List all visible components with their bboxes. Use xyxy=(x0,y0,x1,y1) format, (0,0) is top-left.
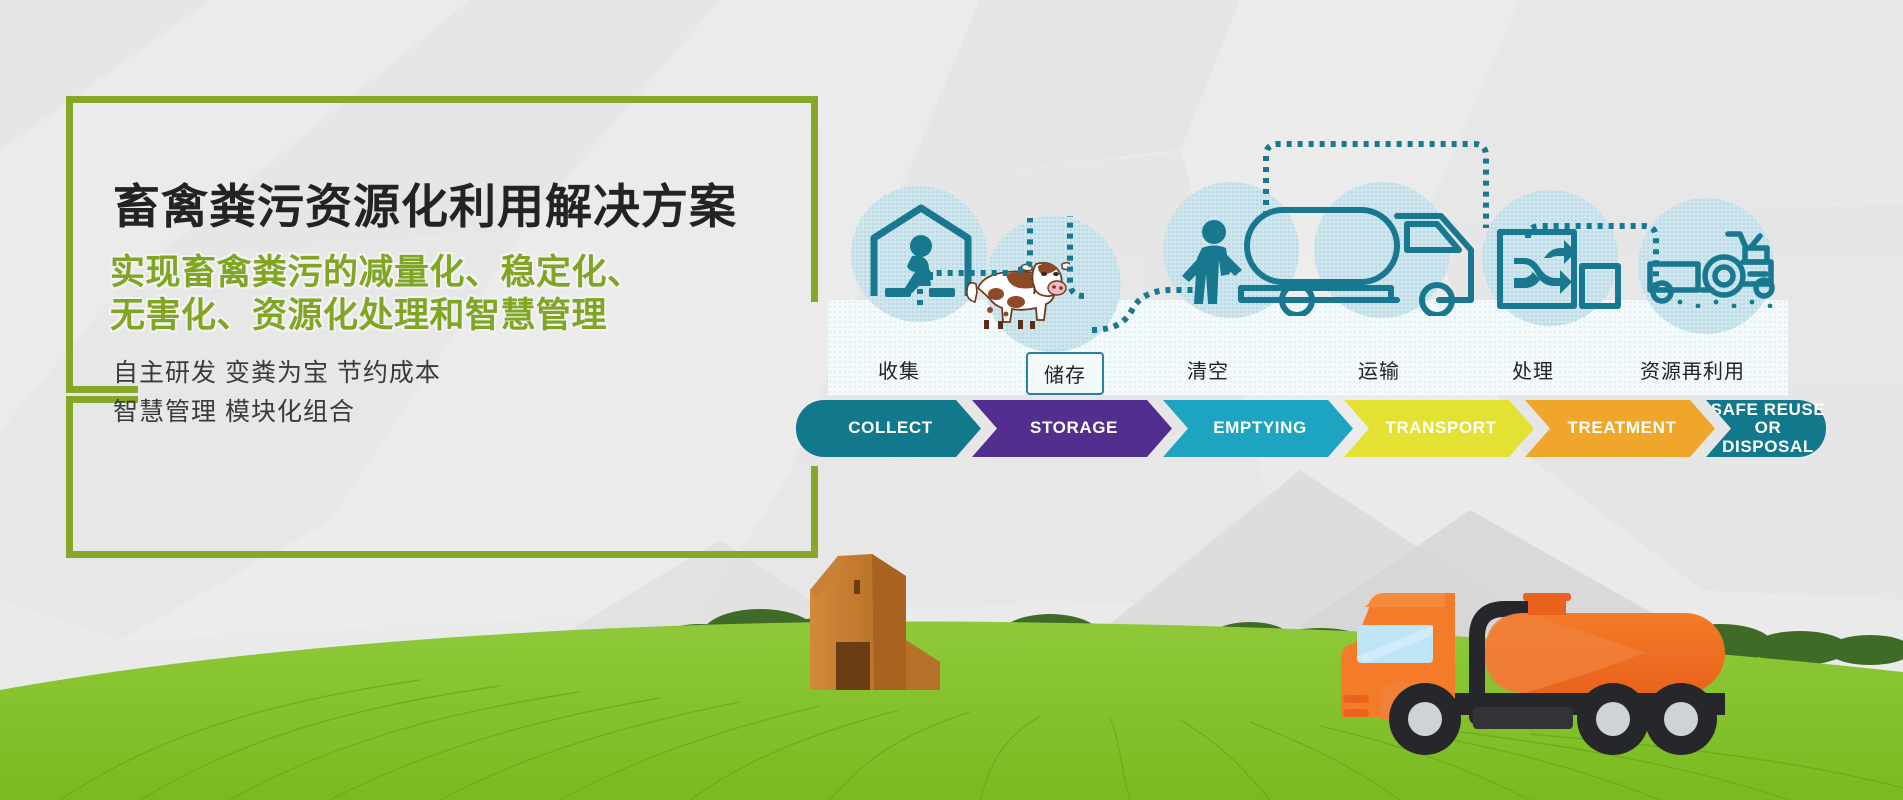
step-label-emptying: 清空 xyxy=(1187,355,1229,384)
orange-tanker-truck xyxy=(1325,567,1755,757)
frame-left-lower xyxy=(66,396,73,558)
step-label-collect: 收集 xyxy=(878,355,920,384)
chevron-emptying[interactable]: EMPTYING xyxy=(1163,400,1353,457)
chevron-reuse[interactable]: SAFE REUSE OR DISPOSAL xyxy=(1706,400,1826,457)
page-subtitle: 实现畜禽粪污的减量化、稳定化、 无害化、资源化处理和智慧管理 xyxy=(110,252,643,337)
hose-connector-line xyxy=(1090,260,1220,336)
step-label-transport: 运输 xyxy=(1358,355,1400,384)
chevron-reuse-label: SAFE REUSE OR DISPOSAL xyxy=(1706,401,1826,456)
chevron-storage-label: STORAGE xyxy=(1026,419,1118,437)
banner-stage: 畜禽粪污资源化利用解决方案 实现畜禽粪污的减量化、稳定化、 无害化、资源化处理和… xyxy=(0,0,1903,800)
chevron-storage[interactable]: STORAGE xyxy=(972,400,1172,457)
page-title: 畜禽粪污资源化利用解决方案 xyxy=(113,181,737,234)
chevron-transport[interactable]: TRANSPORT xyxy=(1344,400,1534,457)
page-tagline: 自主研发 变粪为宝 节约成本 智慧管理 模块化组合 xyxy=(113,354,441,432)
process-chevron-strip: COLLECT STORAGE EMPTYING TRANSPORT TREAT… xyxy=(796,400,1826,457)
step-label-reuse: 资源再利用 xyxy=(1640,355,1745,384)
chevron-emptying-label: EMPTYING xyxy=(1209,419,1307,437)
frame-top-bar xyxy=(66,96,818,103)
chevron-collect-label: COLLECT xyxy=(844,419,932,437)
chevron-treatment-label: TREATMENT xyxy=(1564,419,1677,437)
process-connector-lines xyxy=(828,120,1788,340)
chevron-transport-label: TRANSPORT xyxy=(1381,419,1496,437)
frame-right-upper xyxy=(811,96,818,302)
frame-left-upper xyxy=(66,96,73,386)
step-label-storage: 储存 xyxy=(1026,352,1104,395)
step-label-treatment: 处理 xyxy=(1512,355,1554,384)
chevron-treatment[interactable]: TREATMENT xyxy=(1525,400,1715,457)
chevron-collect[interactable]: COLLECT xyxy=(796,400,981,457)
